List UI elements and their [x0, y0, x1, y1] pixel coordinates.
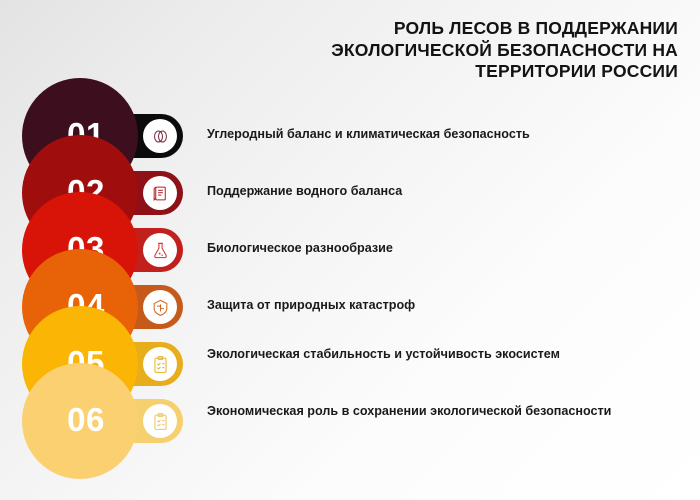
list-item: 06 Экономическая роль в сохранении эколо… [0, 363, 700, 483]
item-6-number-circle[interactable]: 06 [22, 363, 138, 479]
clipboard-icon [143, 404, 177, 438]
infographic-poster: РОЛЬ ЛЕСОВ В ПОДДЕРЖАНИИ ЭКОЛОГИЧЕСКОЙ Б… [0, 0, 700, 500]
item-6-label: Экономическая роль в сохранении экологич… [207, 403, 659, 420]
page-title: РОЛЬ ЛЕСОВ В ПОДДЕРЖАНИИ ЭКОЛОГИЧЕСКОЙ Б… [208, 18, 678, 83]
page-title-line-2: ЭКОЛОГИЧЕСКОЙ БЕЗОПАСНОСТИ НА [208, 40, 678, 62]
item-6-number: 06 [67, 403, 105, 436]
item-5-label: Экологическая стабильность и устойчивост… [207, 346, 659, 363]
page-title-line-1: РОЛЬ ЛЕСОВ В ПОДДЕРЖАНИИ [208, 18, 678, 40]
